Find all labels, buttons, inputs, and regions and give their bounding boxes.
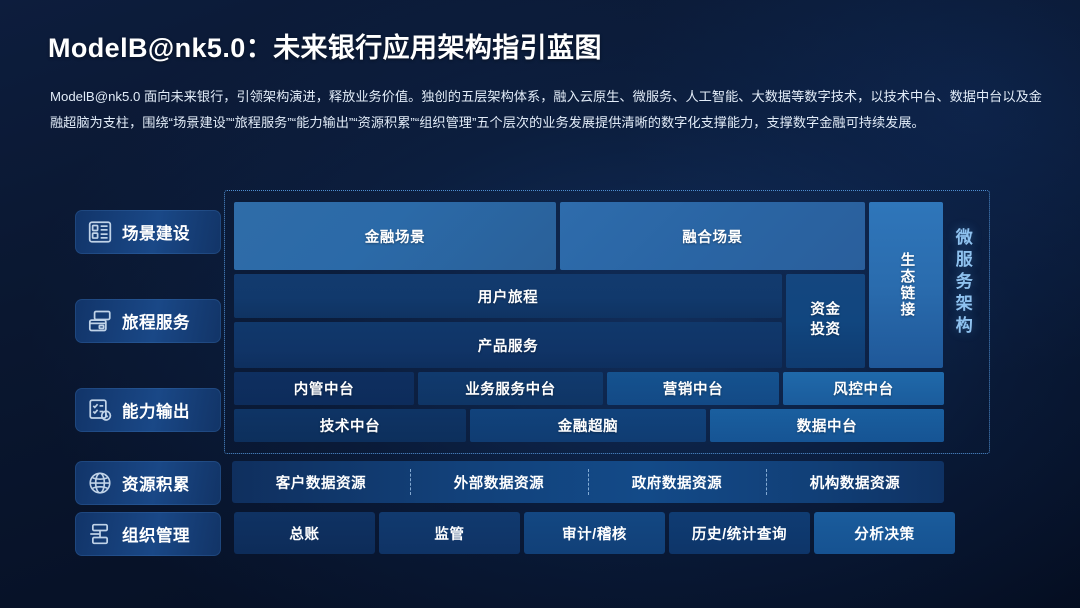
resource-cell-external-data[interactable]: 外部数据资源 [410, 461, 588, 503]
card-stack-icon [87, 308, 113, 334]
globe-icon [87, 470, 113, 496]
resource-accumulation-strip: 客户数据资源 外部数据资源 政府数据资源 机构数据资源 [232, 461, 944, 503]
box-fund-investment[interactable]: 资金 投资 [786, 274, 865, 368]
box-ecosystem-link[interactable]: 生态链接 [869, 202, 943, 368]
resource-cell-customer-data[interactable]: 客户数据资源 [232, 461, 410, 503]
box-business-service-mid-platform[interactable]: 业务服务中台 [418, 372, 603, 405]
rail-item-label: 场景建设 [122, 220, 190, 244]
box-marketing-mid-platform[interactable]: 营销中台 [607, 372, 779, 405]
box-risk-control-mid-platform[interactable]: 风控中台 [783, 372, 944, 405]
box-user-journey[interactable]: 用户旅程 [234, 274, 782, 318]
org-cell-history-statistics-query[interactable]: 历史/统计查询 [669, 512, 810, 554]
org-chart-icon [87, 521, 113, 547]
box-fund-investment-line1: 资金 [810, 301, 840, 321]
microservice-architecture-caption: 微服务架构 [952, 228, 971, 338]
org-cell-analysis-decision[interactable]: 分析决策 [814, 512, 955, 554]
layout-grid-icon [87, 219, 113, 245]
rail-item-journey-service[interactable]: 旅程服务 [75, 299, 221, 343]
rail-item-scene-building[interactable]: 场景建设 [75, 210, 221, 254]
rail-item-organization-management[interactable]: 组织管理 [75, 512, 221, 556]
checklist-clock-icon [87, 397, 113, 423]
resource-cell-institution-data[interactable]: 机构数据资源 [766, 461, 944, 503]
rail-item-label: 组织管理 [122, 522, 190, 546]
rail-item-resource-accumulation[interactable]: 资源积累 [75, 461, 221, 505]
box-financial-scene[interactable]: 金融场景 [234, 202, 556, 270]
rail-item-label: 旅程服务 [122, 309, 190, 333]
page-title: ModelB@nk5.0：未来银行应用架构指引蓝图 [48, 26, 602, 65]
rail-item-label: 资源积累 [122, 471, 190, 495]
intro-paragraph: ModelB@nk5.0 面向未来银行，引领架构演进，释放业务价值。独创的五层架… [50, 84, 1042, 137]
box-technology-mid-platform[interactable]: 技术中台 [234, 409, 466, 442]
box-financial-super-brain[interactable]: 金融超脑 [470, 409, 706, 442]
rail-item-capability-output[interactable]: 能力输出 [75, 388, 221, 432]
org-cell-audit-inspection[interactable]: 审计/稽核 [524, 512, 665, 554]
rail-item-label: 能力输出 [122, 398, 190, 422]
box-data-mid-platform[interactable]: 数据中台 [710, 409, 944, 442]
box-integrated-scene[interactable]: 融合场景 [560, 202, 865, 270]
resource-cell-government-data[interactable]: 政府数据资源 [588, 461, 766, 503]
box-fund-investment-line2: 投资 [810, 321, 840, 341]
org-cell-general-ledger[interactable]: 总账 [234, 512, 375, 554]
box-internal-mid-platform[interactable]: 内管中台 [234, 372, 414, 405]
box-product-service[interactable]: 产品服务 [234, 322, 782, 368]
org-cell-regulation[interactable]: 监管 [379, 512, 520, 554]
